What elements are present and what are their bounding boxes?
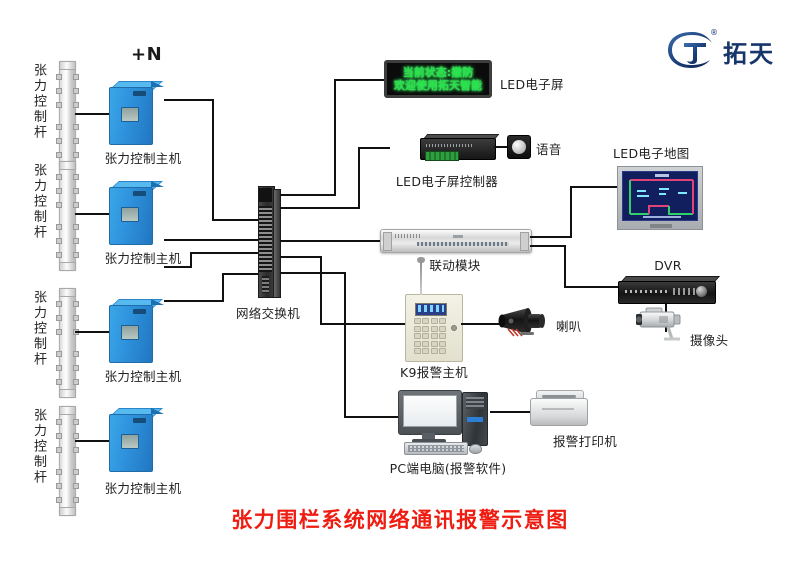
- tension-host-label-2: 张力控制主机: [105, 248, 182, 267]
- speaker-cone-icon: [512, 140, 526, 154]
- pole-label-4: 张力控制杆: [32, 408, 45, 486]
- led-electronic-map: [617, 166, 703, 230]
- wire-host3-c: [190, 252, 260, 254]
- wire-host4-c: [222, 273, 260, 275]
- wire-linkage-map-b: [570, 186, 572, 238]
- tension-host-1: [109, 81, 164, 143]
- alarm-printer: [530, 388, 586, 424]
- diagram-title: 张力围栏系统网络通讯报警示意图: [231, 504, 569, 534]
- wire-linkage-dvr-a: [530, 245, 566, 247]
- horn-speaker: [498, 306, 550, 338]
- k9-alarm-host-label: K9报警主机: [400, 362, 468, 381]
- wire-host4-b: [222, 273, 224, 302]
- wire-switch-linkage: [280, 240, 380, 242]
- tension-host-label-4: 张力控制主机: [105, 478, 182, 497]
- led-screen-controller-label: LED电子屏控制器: [396, 171, 498, 190]
- monitor-icon: [398, 390, 462, 435]
- wire-host3-a: [164, 266, 192, 268]
- wire-switch-pc-a: [280, 272, 346, 274]
- led-screen-controller: [420, 134, 494, 160]
- led-map-label: LED电子地图: [613, 143, 690, 162]
- linkage-module: [380, 229, 532, 253]
- wire-k9-horn: [461, 323, 501, 325]
- tension-host-2: [109, 181, 164, 243]
- wire-linkage-map-c: [570, 186, 618, 188]
- expand-label: +N: [131, 44, 162, 65]
- wire-switch-k9-a: [280, 256, 322, 258]
- mouse-icon: [469, 444, 482, 454]
- wire-pole-host-3: [75, 331, 109, 333]
- wire-switch-ledctrl-b: [358, 147, 360, 209]
- tension-pole-2: [59, 161, 76, 271]
- wire-host4-a: [164, 300, 224, 302]
- diagram-canvas: ® 拓天 +N 张力控制杆 张力控制主机 张力控制杆 张力控制主机 张力控制杆: [0, 0, 800, 579]
- wire-linkage-map-a: [530, 236, 572, 238]
- pc-workstation: [398, 390, 498, 452]
- registered-mark: ®: [710, 28, 718, 37]
- network-switch: [258, 186, 280, 296]
- camera-device: [634, 303, 696, 345]
- k9-keypad: [414, 318, 446, 354]
- wire-switch-k9-b: [320, 256, 322, 325]
- voice-speaker: [507, 135, 531, 159]
- pole-label-2: 张力控制杆: [32, 163, 45, 241]
- tension-pole-1: [59, 61, 76, 171]
- tension-host-3: [109, 299, 164, 361]
- wire-switch-ledboard-b: [334, 79, 336, 196]
- wire-switch-k9-c: [320, 323, 405, 325]
- camera-label: 摄像头: [690, 330, 728, 349]
- led-display-label: LED电子屏: [500, 74, 564, 93]
- tension-pole-3: [59, 288, 76, 398]
- wire-pole-host-1: [75, 113, 109, 115]
- wire-linkage-dvr-b: [564, 245, 566, 288]
- led-display-line2: 欢迎使用拓天智能: [394, 79, 482, 92]
- wire-host1-c: [212, 219, 260, 221]
- wire-host1-b: [212, 99, 214, 221]
- dvr-label: DVR: [654, 258, 682, 273]
- tension-host-4: [109, 408, 164, 470]
- voice-label: 语音: [536, 139, 562, 158]
- network-switch-label: 网络交换机: [236, 303, 300, 322]
- led-display-line1: 当前状态:撤防: [403, 66, 473, 79]
- pole-label-1: 张力控制杆: [32, 63, 45, 141]
- keyboard-icon: [404, 442, 468, 455]
- pc-label: PC端电脑(报警软件): [390, 458, 507, 477]
- wire-switch-ledboard-a: [280, 194, 336, 196]
- wire-switch-ledctrl-a: [280, 207, 360, 209]
- brand-name: 拓天: [723, 34, 775, 69]
- led-display-board: 当前状态:撤防 欢迎使用拓天智能: [384, 60, 492, 98]
- wire-pole-host-4: [75, 440, 109, 442]
- k9-status-led-icon: [451, 325, 457, 331]
- pc-tower-icon: [462, 392, 488, 446]
- wire-pc-printer: [490, 411, 532, 413]
- wire-linkage-dvr-c: [564, 286, 620, 288]
- camera-icon: [634, 303, 696, 345]
- wire-pole-host-2: [75, 213, 109, 215]
- wire-host1-a: [164, 99, 214, 101]
- k9-display: [415, 303, 447, 316]
- led-map-screen: [622, 171, 698, 221]
- horn-icon: [498, 306, 550, 338]
- linkage-module-label: 联动模块: [429, 255, 480, 274]
- map-perimeter-icon: [623, 172, 698, 221]
- tension-pole-4: [59, 406, 76, 516]
- wire-switch-pc-b: [344, 272, 346, 418]
- dvr-device: [618, 276, 714, 302]
- wire-switch-pc-c: [344, 416, 400, 418]
- wire-switch-ledboard-c: [334, 79, 386, 81]
- alarm-printer-label: 报警打印机: [553, 431, 617, 450]
- tension-host-label-3: 张力控制主机: [105, 366, 182, 385]
- wire-host3-b: [190, 252, 192, 268]
- tension-host-label-1: 张力控制主机: [105, 148, 182, 167]
- pole-label-3: 张力控制杆: [32, 290, 45, 368]
- horn-label: 喇叭: [556, 316, 582, 335]
- antenna-icon: [420, 261, 422, 295]
- wire-switch-ledctrl-c: [358, 147, 390, 149]
- wire-host2: [164, 239, 260, 241]
- k9-alarm-host: [405, 294, 463, 362]
- brand-logo: ® 拓天: [666, 30, 790, 70]
